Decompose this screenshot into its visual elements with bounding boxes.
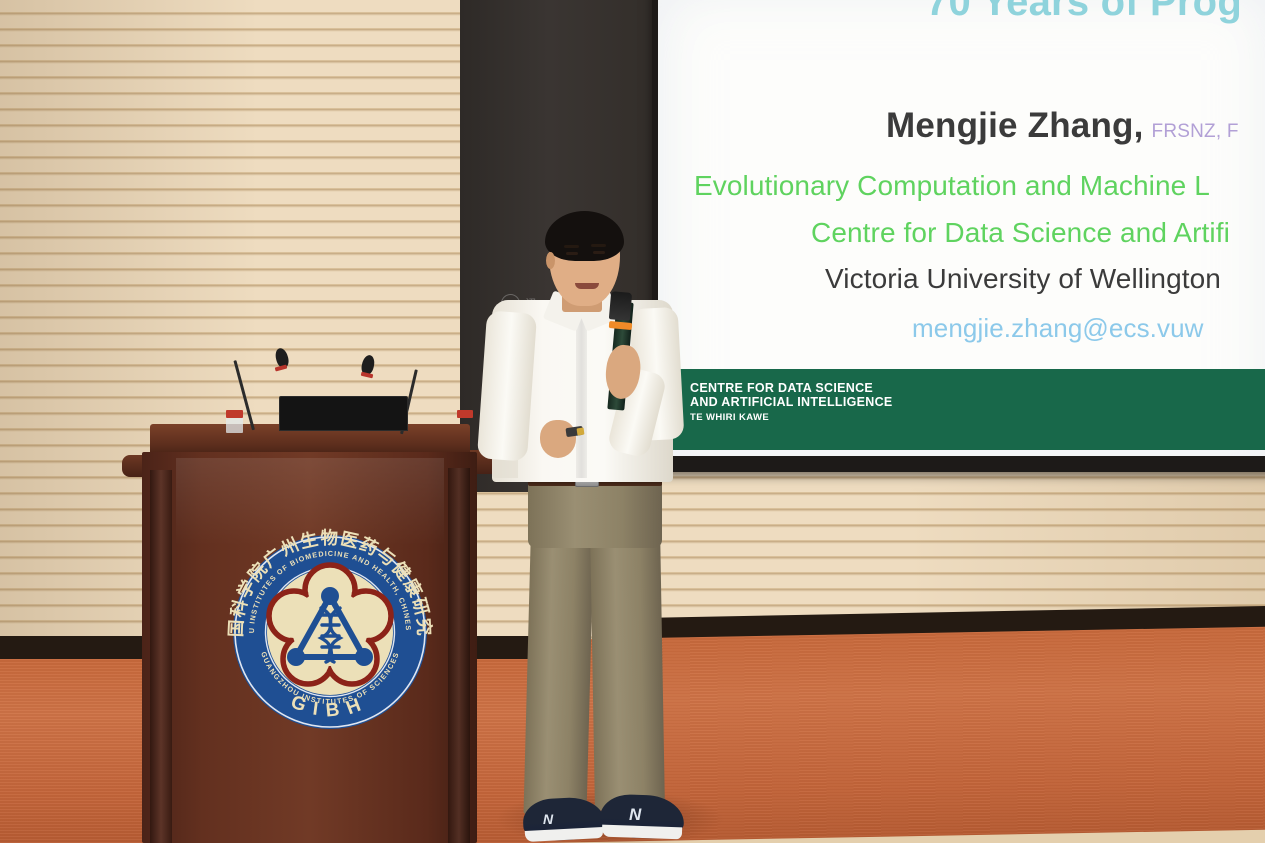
shirt-placket	[576, 318, 587, 478]
presentation-photo-scene: 讯 70 Years of Prog Mengjie Zhang,FRSNZ, …	[0, 0, 1265, 843]
ear	[546, 252, 555, 269]
eyebrow-left	[564, 245, 579, 248]
hand-left-holding-clicker	[540, 420, 576, 458]
hair	[545, 211, 624, 261]
shoe-left-logo: N	[543, 812, 553, 826]
arm-left	[477, 310, 537, 461]
eye-left	[566, 252, 578, 255]
presenter: N N	[0, 0, 1265, 843]
handheld-microphone-head	[609, 291, 632, 321]
mouth	[575, 283, 599, 289]
presentation-clicker-tip	[577, 428, 585, 436]
eye-right	[593, 251, 605, 254]
eyebrow-right	[591, 244, 606, 247]
shoe-right-logo: N	[629, 806, 641, 823]
shoe-right-sole	[602, 825, 682, 840]
